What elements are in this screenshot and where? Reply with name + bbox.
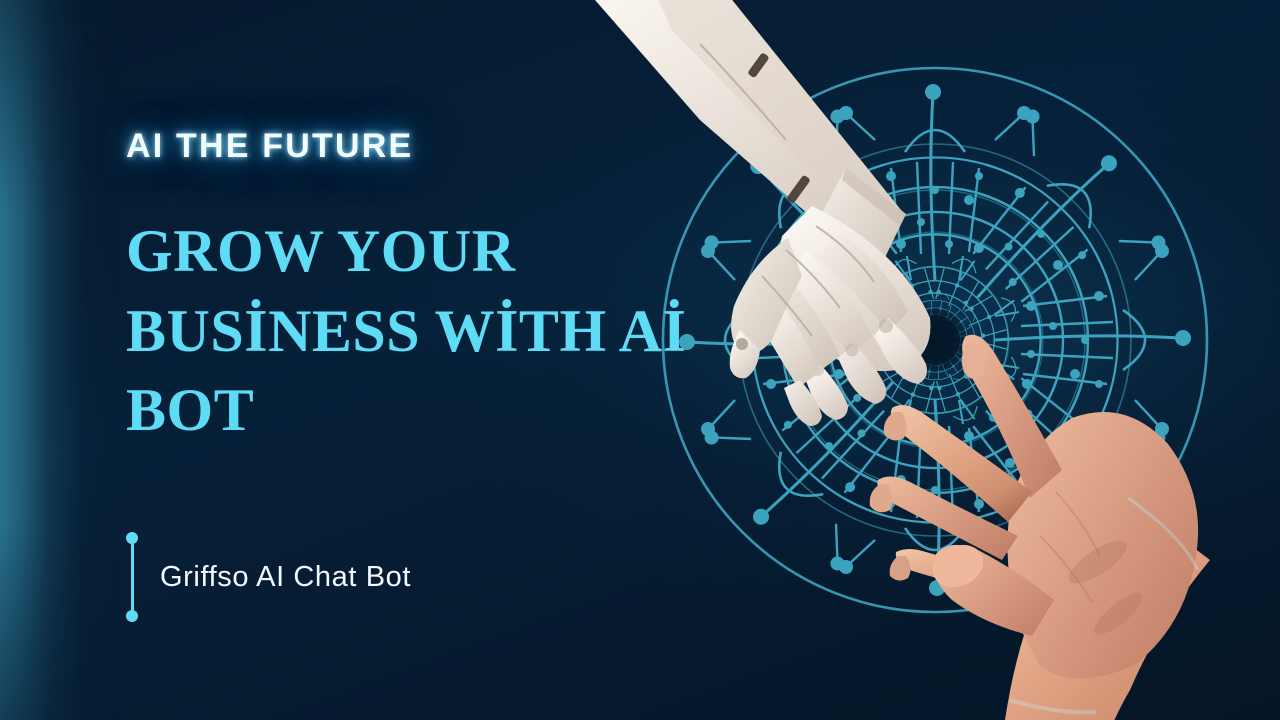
hero-banner: AI THE FUTURE GROW YOUR BUSİNESS WİTH Aİ…	[0, 0, 1280, 720]
marker-dot-bottom	[126, 610, 138, 622]
page-title: GROW YOUR BUSİNESS WİTH Aİ BOT	[126, 212, 726, 451]
left-edge-gradient	[0, 0, 120, 720]
tagline-row: Griffso AI Chat Bot	[126, 532, 411, 622]
brand-tagline: Griffso AI Chat Bot	[160, 561, 411, 594]
eyebrow-text: AI THE FUTURE	[126, 128, 726, 165]
accent-marker-icon	[126, 532, 138, 622]
hero-copy: AI THE FUTURE GROW YOUR BUSİNESS WİTH Aİ…	[126, 128, 726, 451]
marker-stem	[131, 538, 134, 616]
